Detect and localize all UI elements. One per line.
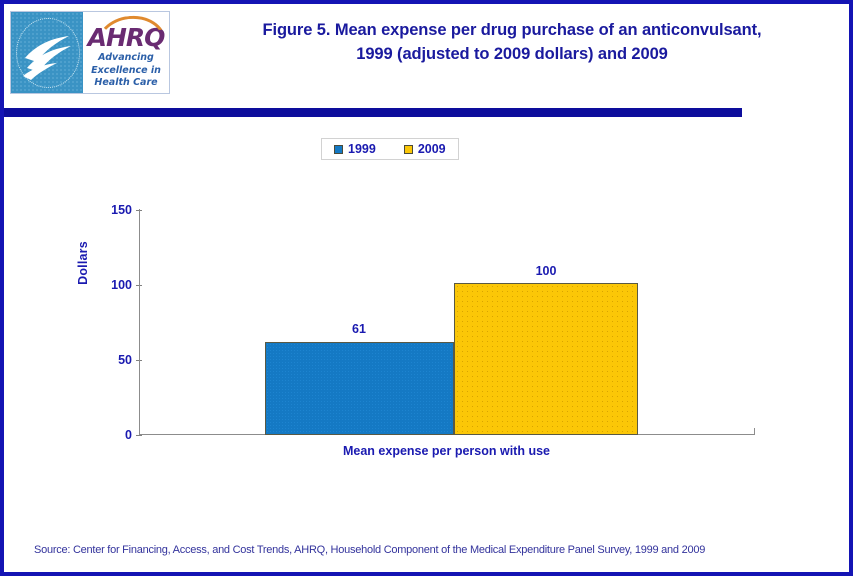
y-tick-label-0: 0 xyxy=(94,429,132,441)
figure-page: AHRQ Advancing Excellence in Health Care… xyxy=(0,0,853,576)
bar-chart: Dollars 150 100 50 0 61 100 Mean expense… xyxy=(4,4,849,572)
y-axis-line xyxy=(139,209,140,434)
x-axis-category-label: Mean expense per person with use xyxy=(184,444,709,458)
y-tick-mark-0 xyxy=(136,435,142,436)
source-note: Source: Center for Financing, Access, an… xyxy=(34,544,824,556)
bar-2009 xyxy=(454,283,638,435)
x-axis-end-tick xyxy=(754,428,755,435)
y-tick-label-150: 150 xyxy=(94,204,132,216)
y-tick-label-50: 50 xyxy=(94,354,132,366)
bar-value-2009: 100 xyxy=(501,265,591,277)
y-axis-title: Dollars xyxy=(76,218,90,308)
bar-1999 xyxy=(265,342,454,435)
y-tick-label-100: 100 xyxy=(94,279,132,291)
bar-value-1999: 61 xyxy=(314,323,404,335)
